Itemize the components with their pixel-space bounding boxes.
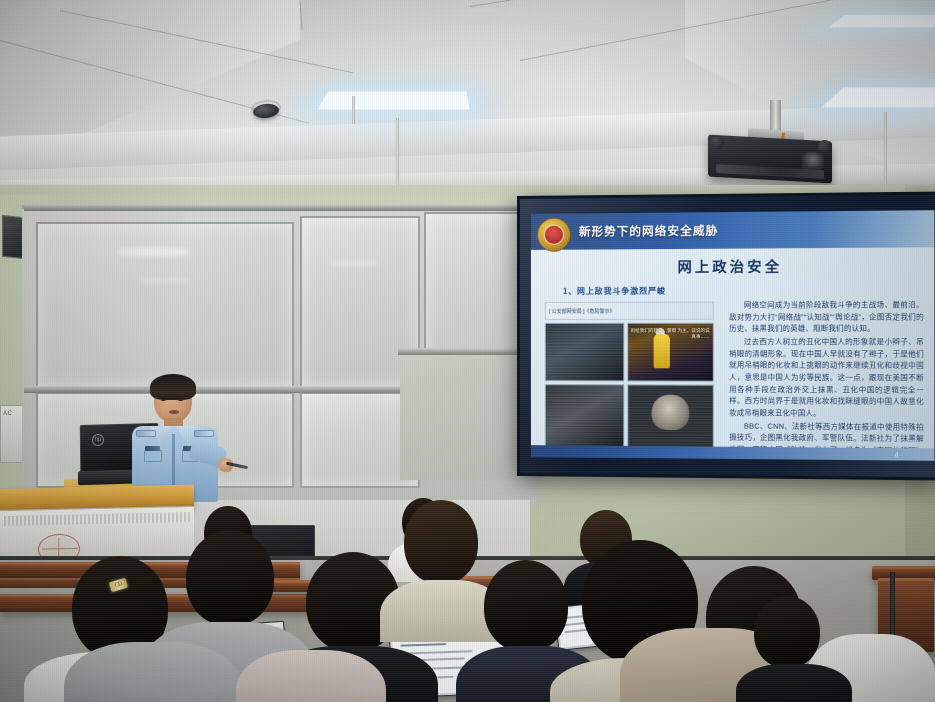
collage-caption: [ 公安部网安局 ]《危险警示》 bbox=[545, 301, 714, 319]
slide-paragraph-2: 过去西方人树立的丑化中国人的形象就是小辫子、吊梢眼的清朝形象。现在中国人早就没有… bbox=[729, 336, 924, 420]
slide-page-title: 网上政治安全 bbox=[531, 256, 935, 278]
head bbox=[404, 500, 478, 584]
hp-logo-icon: hp bbox=[92, 434, 104, 446]
slide-paragraph-1: 网络空间成为当前阶段敌我斗争的主战场、最前沿。敌对势力大打“网络战”“认知战”“… bbox=[729, 299, 924, 335]
panel-light-far-right bbox=[827, 14, 935, 28]
slide-page-number: 4 bbox=[894, 452, 898, 459]
audience-person-front-9 bbox=[236, 646, 366, 702]
wall-speaker bbox=[2, 215, 24, 259]
slide-footer-bar bbox=[531, 445, 935, 461]
slide-body-text: 网络空间成为当前阶段敌我斗争的主战场、最前沿。敌对势力大打“网络战”“认知战”“… bbox=[729, 299, 924, 438]
lecture-hall-photo: AC 新形势下的网络安全威胁 网上政治安全 1、网上敌我斗争激烈严峻 [ 公安部… bbox=[0, 0, 935, 702]
presenter-eye-right bbox=[178, 398, 183, 401]
projection-screen[interactable]: 新形势下的网络安全威胁 网上政治安全 1、网上敌我斗争激烈严峻 [ 公安部网安局… bbox=[517, 191, 935, 480]
whiteboard-glare bbox=[140, 278, 190, 283]
panel-light-center bbox=[316, 91, 471, 110]
photo-portrait-face bbox=[652, 394, 689, 430]
ceiling-hanger-rod bbox=[352, 96, 355, 124]
collage-photo-3 bbox=[545, 384, 624, 448]
slide-header-title: 新形势下的网络安全威胁 bbox=[579, 222, 718, 239]
audience-person-front-12 bbox=[748, 596, 838, 702]
slide-image-collage: [ 公安部网安局 ]《危险警示》 别给我们的镜头，警察 为主，该说的说真事…… bbox=[545, 301, 715, 446]
presenter-insignia-left bbox=[145, 446, 160, 451]
whiteboard-glare bbox=[330, 260, 378, 266]
whiteboard-glare bbox=[116, 248, 190, 256]
head bbox=[484, 560, 568, 652]
photo-grain bbox=[546, 385, 623, 447]
projector-knob bbox=[711, 136, 724, 149]
slide-subhead: 1、网上敌我斗争激烈严峻 bbox=[563, 285, 666, 296]
presenter-police-officer bbox=[128, 378, 224, 500]
police-emblem-inner bbox=[544, 225, 564, 245]
head bbox=[754, 596, 820, 668]
whiteboard-top-rail bbox=[24, 204, 542, 211]
collage-photo-2: 别给我们的镜头，警察 为主，该说的说真事…… bbox=[627, 323, 713, 382]
shoulders bbox=[236, 650, 386, 702]
projector-lens bbox=[802, 152, 824, 169]
slide-header-bar: 新形势下的网络安全威胁 bbox=[531, 210, 935, 250]
presenter-epaulet-left bbox=[136, 430, 156, 437]
collage-photo-1 bbox=[545, 323, 624, 381]
presenter-hair bbox=[150, 374, 196, 400]
presentation-slide: 新形势下的网络安全威胁 网上政治安全 1、网上敌我斗争激烈严峻 [ 公安部网安局… bbox=[531, 210, 935, 461]
shoulders bbox=[736, 664, 852, 702]
presenter-epaulet-right bbox=[194, 430, 214, 437]
head bbox=[186, 530, 274, 626]
photo-grain bbox=[546, 324, 623, 380]
shoulders bbox=[64, 642, 242, 702]
ac-unit-label: AC bbox=[3, 411, 12, 417]
police-emblem-icon bbox=[537, 218, 571, 252]
photo-overlay-text: 别给我们的镜头，警察 为主，该说的说真事…… bbox=[628, 328, 709, 341]
collage-photo-4 bbox=[627, 384, 713, 448]
audience-person-front-8 bbox=[64, 636, 224, 702]
presenter-eye-left bbox=[161, 398, 166, 401]
whiteboard-panel-left bbox=[36, 222, 294, 388]
presenter-pocket-left bbox=[144, 450, 162, 462]
presenter-mouth bbox=[169, 410, 179, 414]
